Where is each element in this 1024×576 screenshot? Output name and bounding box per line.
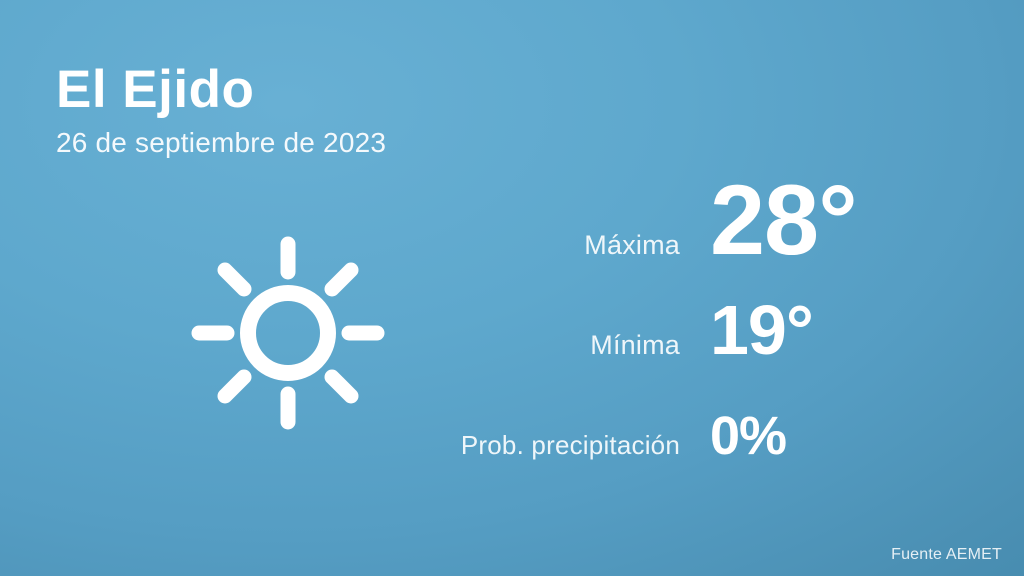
- source-attribution: Fuente AEMET: [891, 546, 1002, 564]
- maxima-label: Máxima: [428, 230, 710, 261]
- readings-list: Máxima 28° Mínima 19° Prob. precipitació…: [420, 170, 940, 463]
- reading-row-maxima: Máxima 28°: [420, 170, 940, 269]
- minima-value: 19°: [710, 295, 940, 365]
- minima-label: Mínima: [428, 330, 710, 361]
- weather-icon: [168, 213, 408, 453]
- weather-card: El Ejido 26 de septiembre de 2023 Má: [0, 0, 1024, 576]
- sun-rays-icon: [199, 244, 377, 422]
- reading-row-minima: Mínima 19°: [420, 295, 940, 365]
- precipitation-value: 0%: [710, 409, 940, 463]
- reading-row-precipitation: Prob. precipitación 0%: [420, 409, 940, 463]
- sun-disc-icon: [248, 293, 328, 373]
- page-title: El Ejido: [56, 62, 386, 118]
- precipitation-label: Prob. precipitación: [428, 430, 710, 461]
- forecast-date: 26 de septiembre de 2023: [56, 127, 386, 159]
- maxima-value: 28°: [710, 170, 940, 269]
- card-header: El Ejido 26 de septiembre de 2023: [56, 62, 386, 159]
- sun-icon: [168, 213, 408, 453]
